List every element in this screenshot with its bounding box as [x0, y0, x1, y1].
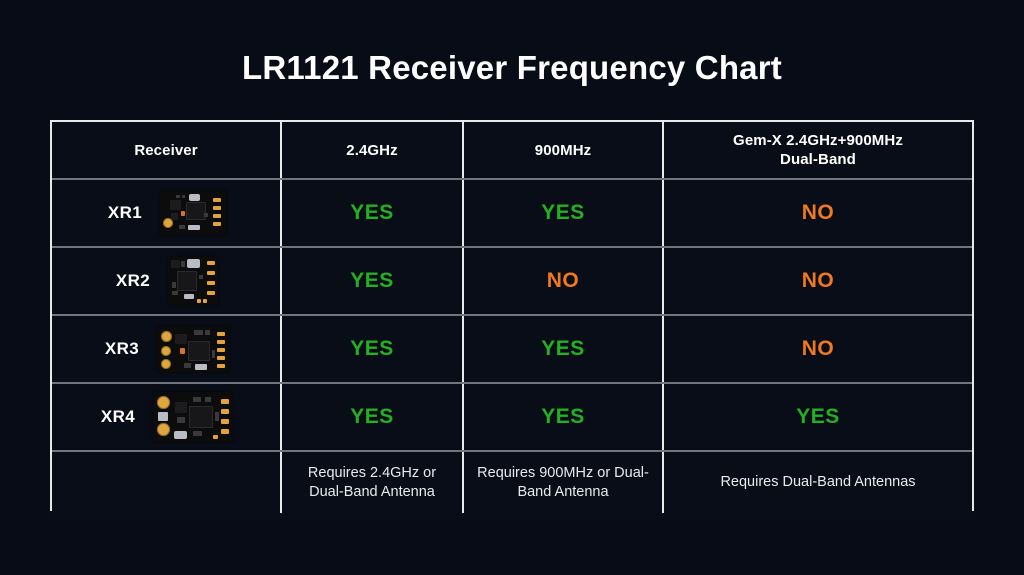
cell-xr3-900mhz: YES [463, 315, 663, 383]
verdict-xr3-24ghz: YES [350, 337, 394, 360]
table-header: Receiver 2.4GHz 900MHz Gem-X 2.4GHz+900M… [52, 122, 972, 179]
cell-xr2-dual-band: NO [663, 247, 972, 315]
verdict-xr4-dual-band: YES [796, 405, 840, 428]
cell-xr1-dual-band: NO [663, 179, 972, 247]
receiver-cell-xr4: XR4 [52, 383, 281, 451]
receiver-name-xr2: XR2 [114, 271, 152, 291]
frequency-chart-page: LR1121 Receiver Frequency Chart Receiver… [0, 0, 1024, 575]
column-header-receiver-label: Receiver [52, 141, 280, 160]
column-header-24ghz: 2.4GHz [281, 122, 463, 179]
verdict-xr2-900mhz: NO [547, 269, 580, 292]
verdict-xr4-24ghz: YES [350, 405, 394, 428]
footnote-cell-900mhz: Requires 900MHz or Dual-Band Antenna [463, 451, 663, 513]
cell-xr1-900mhz: YES [463, 179, 663, 247]
receiver-name-xr1: XR1 [106, 203, 144, 223]
cell-xr2-24ghz: YES [281, 247, 463, 315]
verdict-xr4-900mhz: YES [541, 405, 585, 428]
frequency-table: Receiver 2.4GHz 900MHz Gem-X 2.4GHz+900M… [52, 122, 972, 513]
cell-xr4-24ghz: YES [281, 383, 463, 451]
column-header-900mhz-label: 900MHz [464, 141, 662, 160]
xr4-receiver-board-image [153, 392, 233, 442]
footnote-900mhz: Requires 900MHz or Dual-Band Antenna [464, 464, 662, 502]
xr3-receiver-board-image [157, 326, 229, 372]
column-header-dual-band-line1: Gem-X 2.4GHz+900MHz [664, 131, 972, 150]
table-footnote-row: Requires 2.4GHz or Dual-Band Antenna Req… [52, 451, 972, 513]
verdict-xr1-900mhz: YES [541, 201, 585, 224]
verdict-xr3-dual-band: NO [802, 337, 835, 360]
table-body: XR1 [52, 179, 972, 513]
receiver-cell-xr1: XR1 [52, 179, 281, 247]
table-row: XR1 [52, 179, 972, 247]
verdict-xr1-dual-band: NO [802, 201, 835, 224]
frequency-table-container: Receiver 2.4GHz 900MHz Gem-X 2.4GHz+900M… [50, 120, 974, 511]
verdict-xr1-24ghz: YES [350, 201, 394, 224]
verdict-xr3-900mhz: YES [541, 337, 585, 360]
receiver-cell-xr2: XR2 [52, 247, 281, 315]
xr2-receiver-board-image [168, 257, 218, 305]
cell-xr4-dual-band: YES [663, 383, 972, 451]
footnote-dual-band: Requires Dual-Band Antennas [664, 473, 972, 492]
cell-xr2-900mhz: NO [463, 247, 663, 315]
xr1-receiver-board-image [160, 191, 226, 235]
receiver-name-xr4: XR4 [99, 407, 137, 427]
column-header-dual-band-line2: Dual-Band [664, 150, 972, 169]
cell-xr4-900mhz: YES [463, 383, 663, 451]
table-row: XR3 [52, 315, 972, 383]
cell-xr1-24ghz: YES [281, 179, 463, 247]
footnote-cell-24ghz: Requires 2.4GHz or Dual-Band Antenna [281, 451, 463, 513]
column-header-dual-band: Gem-X 2.4GHz+900MHz Dual-Band [663, 122, 972, 179]
column-header-900mhz: 900MHz [463, 122, 663, 179]
footnote-cell-receiver [52, 451, 281, 513]
table-row: XR2 [52, 247, 972, 315]
page-title: LR1121 Receiver Frequency Chart [0, 48, 1024, 88]
footnote-24ghz: Requires 2.4GHz or Dual-Band Antenna [282, 464, 462, 502]
table-row: XR4 [52, 383, 972, 451]
receiver-cell-xr3: XR3 [52, 315, 281, 383]
verdict-xr2-dual-band: NO [802, 269, 835, 292]
table-header-row: Receiver 2.4GHz 900MHz Gem-X 2.4GHz+900M… [52, 122, 972, 179]
cell-xr3-24ghz: YES [281, 315, 463, 383]
footnote-cell-dual-band: Requires Dual-Band Antennas [663, 451, 972, 513]
receiver-name-xr3: XR3 [103, 339, 141, 359]
verdict-xr2-24ghz: YES [350, 269, 394, 292]
cell-xr3-dual-band: NO [663, 315, 972, 383]
column-header-24ghz-label: 2.4GHz [282, 141, 462, 160]
column-header-receiver: Receiver [52, 122, 281, 179]
